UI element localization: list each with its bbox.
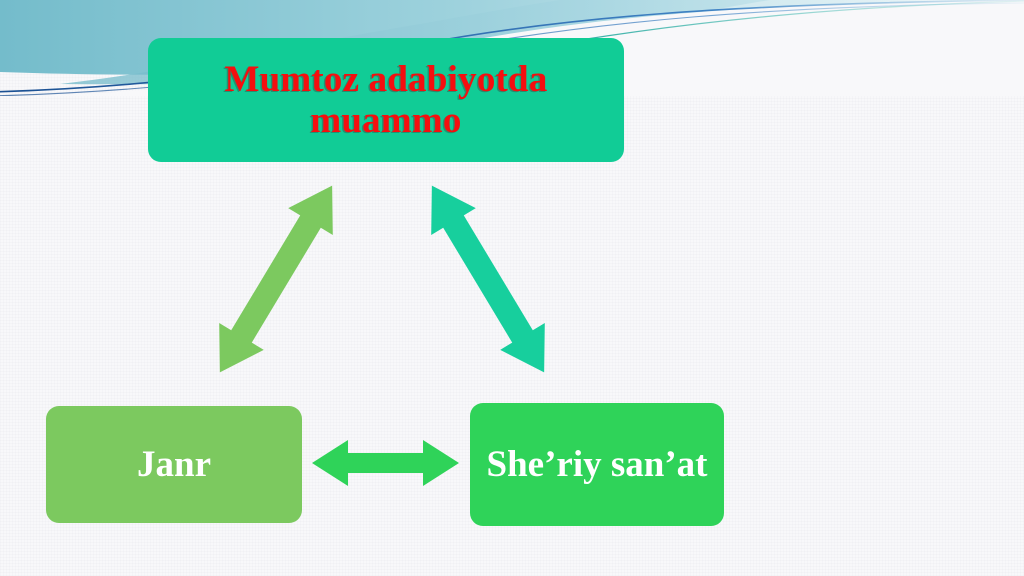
diagram-node-left-label: Janr (137, 444, 211, 485)
diagram-node-top[interactable]: Mumtoz adabiyotda muammo (148, 38, 624, 162)
diagram-node-right-label: She’riy san’at (487, 444, 708, 485)
diagram-node-top-label: Mumtoz adabiyotda muammo (162, 59, 610, 142)
double-arrow-top-right (406, 166, 571, 392)
diagram-node-left[interactable]: Janr (46, 406, 302, 523)
slide-canvas: Mumtoz adabiyotda muammo Janr She’riy sa… (0, 0, 1024, 576)
diagram-node-right[interactable]: She’riy san’at (470, 403, 724, 526)
double-arrow-left-right (308, 432, 463, 494)
double-arrow-top-left (196, 166, 356, 392)
